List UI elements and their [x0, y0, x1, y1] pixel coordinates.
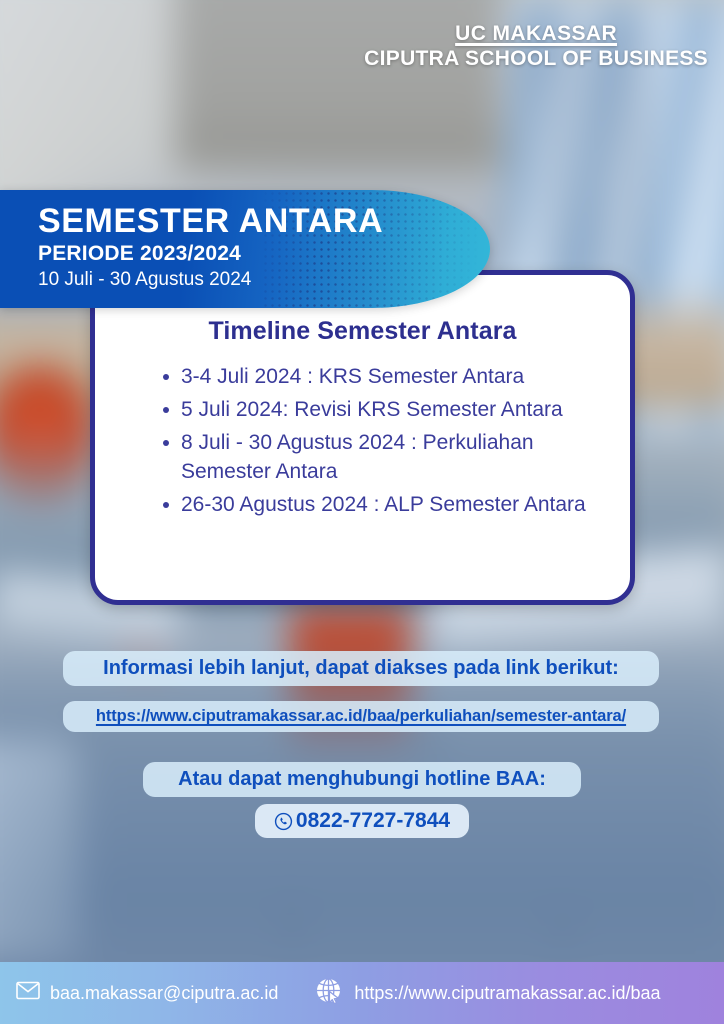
banner-dates: 10 Juli - 30 Agustus 2024: [38, 270, 490, 289]
phone-icon: [274, 812, 293, 831]
footer-email-text: baa.makassar@ciputra.ac.id: [50, 983, 278, 1004]
hotline-number-pill[interactable]: 0822-7727-7844: [255, 804, 469, 838]
list-item: 5 Juli 2024: Revisi KRS Semester Antara: [161, 395, 604, 425]
contact-footer: baa.makassar@ciputra.ac.id https://www.c…: [0, 962, 724, 1024]
timeline-title: Timeline Semester Antara: [121, 317, 604, 346]
footer-website-item[interactable]: https://www.ciputramakassar.ac.id/baa: [314, 976, 660, 1011]
mail-icon: [16, 981, 40, 1005]
poster-canvas: UC MAKASSAR CIPUTRA SCHOOL OF BUSINESS T…: [0, 0, 724, 1024]
timeline-card-inner: Timeline Semester Antara 3-4 Juli 2024 :…: [95, 275, 630, 520]
info-link-pill[interactable]: https://www.ciputramakassar.ac.id/baa/pe…: [63, 701, 659, 732]
banner-text-group: SEMESTER ANTARA PERIODE 2023/2024 10 Jul…: [0, 190, 490, 289]
banner-title: SEMESTER ANTARA: [38, 204, 490, 238]
timeline-list: 3-4 Juli 2024 : KRS Semester Antara 5 Ju…: [121, 362, 604, 520]
institution-name: UC MAKASSAR: [364, 22, 708, 47]
globe-cursor-icon: [314, 976, 344, 1011]
hotline-number-text: 0822-7727-7844: [296, 809, 450, 833]
timeline-card: Timeline Semester Antara 3-4 Juli 2024 :…: [90, 270, 635, 605]
hotline-heading-pill: Atau dapat menghubungi hotline BAA:: [143, 762, 581, 797]
footer-website-text: https://www.ciputramakassar.ac.id/baa: [354, 983, 660, 1004]
footer-email-item[interactable]: baa.makassar@ciputra.ac.id: [16, 981, 278, 1005]
info-heading-pill: Informasi lebih lanjut, dapat diakses pa…: [63, 651, 659, 686]
list-item: 3-4 Juli 2024 : KRS Semester Antara: [161, 362, 604, 392]
institution-school: CIPUTRA SCHOOL OF BUSINESS: [364, 47, 708, 72]
institution-header: UC MAKASSAR CIPUTRA SCHOOL OF BUSINESS: [364, 22, 708, 72]
list-item: 8 Juli - 30 Agustus 2024 : Perkuliahan S…: [161, 428, 604, 488]
list-item: 26-30 Agustus 2024 : ALP Semester Antara: [161, 490, 604, 520]
banner-subtitle: PERIODE 2023/2024: [38, 243, 490, 264]
semester-banner: SEMESTER ANTARA PERIODE 2023/2024 10 Jul…: [0, 190, 490, 308]
